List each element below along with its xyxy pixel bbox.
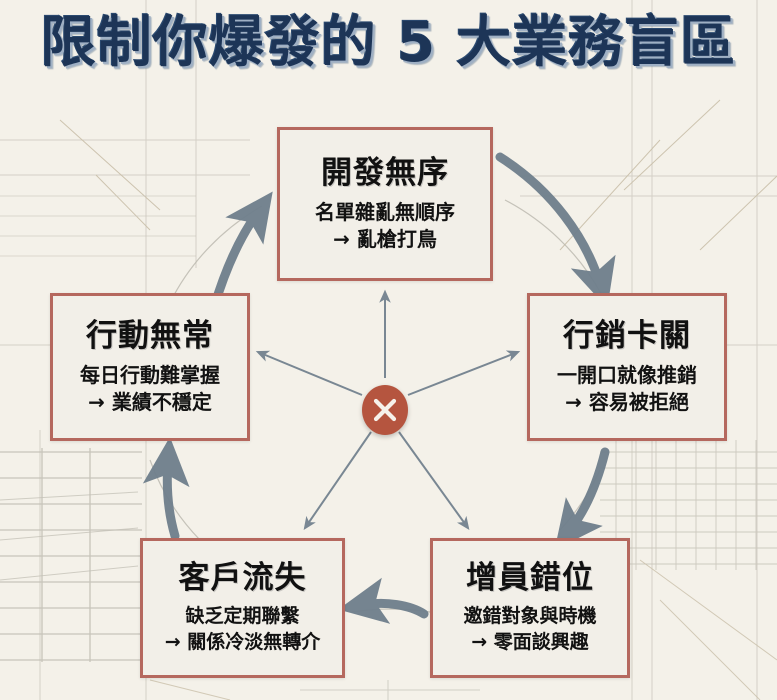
node-box-bottom-left[interactable]: 客戶流失 缺乏定期聯繫 → 關係冷淡無轉介	[140, 538, 345, 678]
node-box-left[interactable]: 行動無常 每日行動難掌握 → 業績不穩定	[50, 293, 250, 441]
node-line-2: → 業績不穩定	[88, 389, 212, 416]
node-line-2: → 容易被拒絕	[565, 389, 689, 416]
spoke-hub-to-bottomleft	[305, 432, 371, 528]
node-title: 行銷卡關	[563, 318, 691, 355]
cycle-arrow-right-to-bottomright	[570, 452, 605, 530]
spoke-hub-to-right	[408, 352, 518, 395]
node-line-1: 每日行動難掌握	[80, 362, 220, 389]
node-box-right[interactable]: 行銷卡關 一開口就像推銷 → 容易被拒絕	[527, 293, 727, 441]
node-line-1: 缺乏定期聯繫	[185, 604, 299, 630]
node-line-1: 邀錯對象與時機	[463, 604, 596, 630]
center-hub	[362, 385, 408, 435]
node-line-2: → 亂槍打鳥	[333, 226, 437, 253]
x-mark-icon	[362, 385, 408, 435]
node-line-2: → 關係冷淡無轉介	[165, 630, 321, 656]
page-title: 限制你爆發的 5 大業務盲區	[0, 14, 777, 72]
node-title: 開發無序	[321, 155, 449, 192]
node-line-1: 一開口就像推銷	[557, 362, 697, 389]
page-title-text: 限制你爆發的 5 大業務盲區	[41, 14, 737, 72]
node-title: 增員錯位	[466, 560, 594, 597]
node-line-2: → 零面談興趣	[471, 630, 589, 656]
cycle-arrow-bottomleft-to-left	[167, 462, 175, 536]
node-title: 行動無常	[86, 318, 214, 355]
node-title: 客戶流失	[179, 560, 307, 597]
spoke-hub-to-bottomright	[399, 432, 468, 528]
node-box-top[interactable]: 開發無序 名單雜亂無順序 → 亂槍打鳥	[277, 127, 493, 281]
infographic-canvas: 限制你爆發的 5 大業務盲區	[0, 0, 777, 700]
node-box-bottom-right[interactable]: 增員錯位 邀錯對象與時機 → 零面談興趣	[430, 538, 630, 678]
node-line-1: 名單雜亂無順序	[315, 199, 455, 226]
cycle-arrow-bottomright-to-bottomleft	[363, 603, 424, 614]
cycle-arrow-top-to-right	[500, 157, 600, 284]
spoke-hub-to-left	[258, 352, 362, 395]
